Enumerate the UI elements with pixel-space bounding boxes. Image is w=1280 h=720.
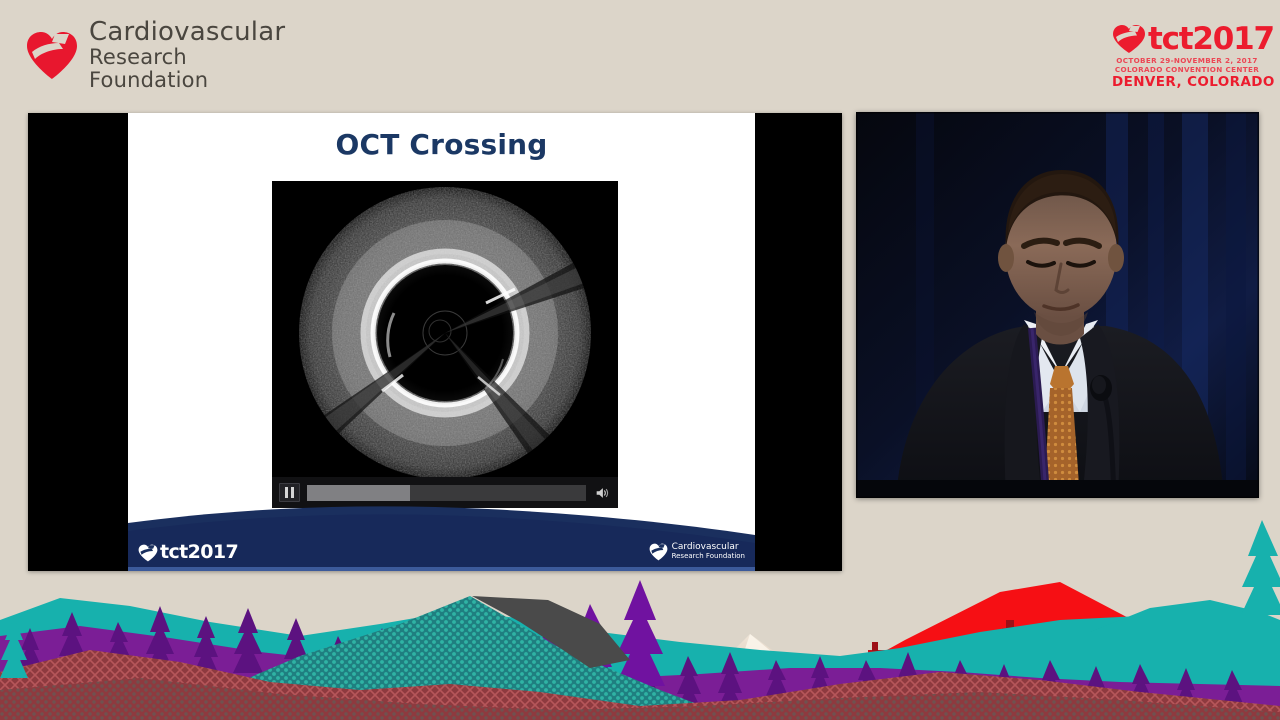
slide-footer-crf-line2: Research Foundation: [672, 553, 745, 561]
slide-footer-band: tct2017 Cardiovascular Research Foundati…: [128, 505, 755, 571]
tct2017-logo: tct2017 OCTOBER 29-NOVEMBER 2, 2017 COLO…: [1112, 22, 1262, 90]
speaker-video-frame: [856, 112, 1259, 498]
volume-speaker-icon[interactable]: [593, 484, 611, 502]
slide-viewer-panel[interactable]: OCT Crossing: [28, 113, 842, 571]
tct-venue: COLORADO CONVENTION CENTER: [1112, 65, 1262, 74]
crf-logo: Cardiovascular Research Foundation: [25, 24, 270, 86]
slide-footer-crf-logo: Cardiovascular Research Foundation: [649, 543, 745, 561]
crf-logo-line2: Research Foundation: [89, 46, 285, 91]
crf-logo-line1: Cardiovascular: [89, 18, 285, 46]
video-progress-scrubber[interactable]: [307, 485, 586, 501]
webcast-player-screen: Cardiovascular Research Foundation tct20…: [0, 0, 1280, 720]
tct-city: DENVER, COLORADO: [1112, 74, 1262, 90]
tct-heart-icon-small: [138, 544, 158, 562]
slide-footer-tct-wordmark: tct2017: [160, 543, 238, 562]
oct-video-player[interactable]: [272, 181, 618, 508]
slide-title: OCT Crossing: [128, 128, 755, 161]
tct-heart-icon: [1112, 24, 1146, 54]
slide-content: OCT Crossing: [128, 113, 755, 571]
oct-cross-section-image: [272, 181, 618, 477]
crf-heart-icon: [25, 30, 79, 80]
crf-heart-icon-small: [649, 543, 668, 561]
pause-icon[interactable]: [279, 483, 300, 502]
slide-footer-tct-logo: tct2017: [138, 543, 238, 562]
tct-wordmark: tct2017: [1148, 24, 1274, 54]
video-progress-fill: [307, 485, 410, 501]
speaker-video-panel[interactable]: [856, 112, 1259, 498]
tct-dates: OCTOBER 29-NOVEMBER 2, 2017: [1112, 56, 1262, 65]
video-controls-bar[interactable]: [272, 477, 618, 508]
